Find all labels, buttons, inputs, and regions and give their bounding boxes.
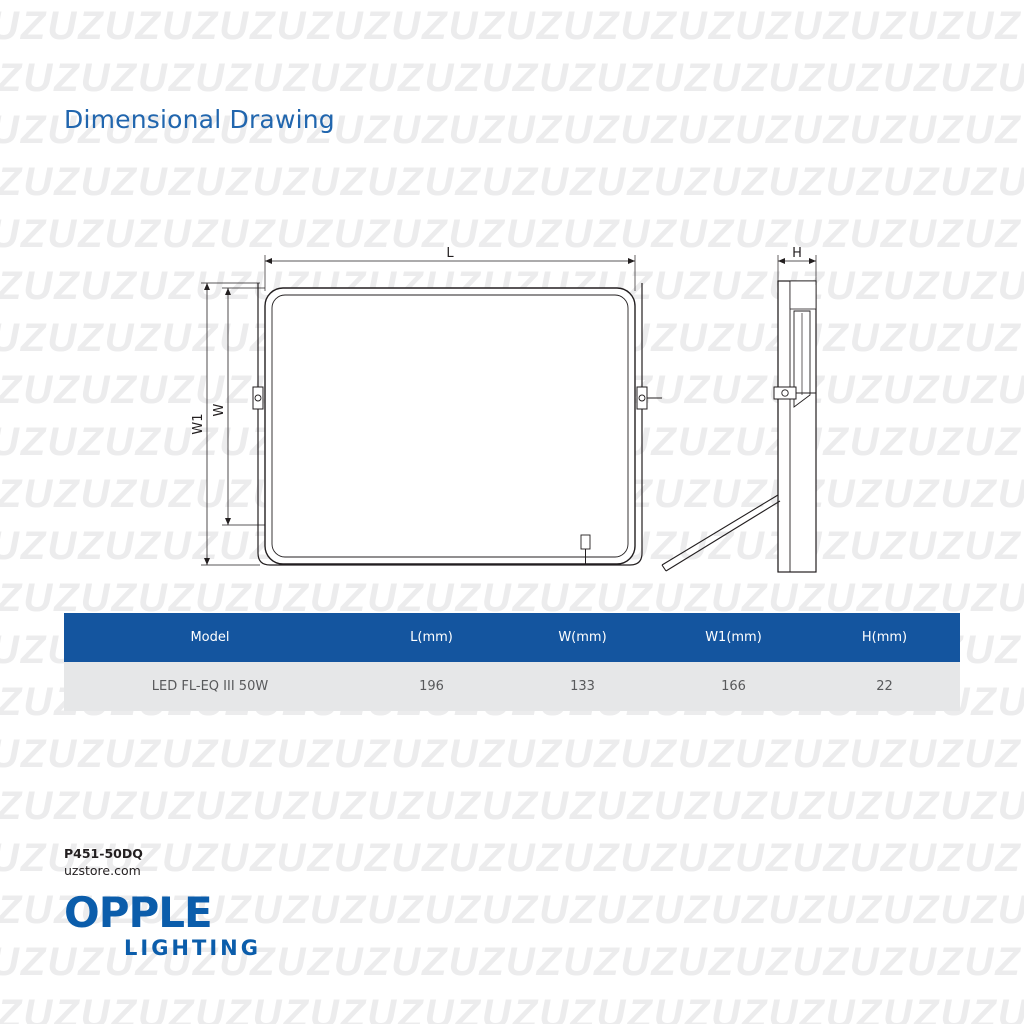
side-pivot-screw [782, 390, 788, 396]
dim-arrow-W1-top [204, 283, 210, 290]
dim-label-W1: W1 [191, 413, 206, 434]
table-header-row: Model L(mm) W(mm) W1(mm) H(mm) [64, 613, 960, 662]
power-cable-top [662, 495, 778, 565]
table-header-l: L(mm) [356, 613, 507, 662]
side-top-cap [790, 281, 816, 309]
website-text: uzstore.com [64, 862, 261, 879]
dim-arrow-W-bottom [225, 518, 231, 525]
table-header-w1: W1(mm) [658, 613, 809, 662]
dim-arrow-L-right [628, 258, 635, 264]
bottom-screw [581, 535, 590, 549]
cell-model: LED FL-EQ III 50W [64, 662, 356, 711]
specification-table: Model L(mm) W(mm) W1(mm) H(mm) LED FL-EQ… [64, 613, 960, 711]
table-header-w: W(mm) [507, 613, 658, 662]
front-body-outline [265, 288, 635, 564]
dim-arrow-H-right [809, 258, 816, 264]
logo-sub-text: LIGHTING [124, 935, 261, 961]
cell-w: 133 [507, 662, 658, 711]
cell-l: 196 [356, 662, 507, 711]
table-header-h: H(mm) [809, 613, 960, 662]
product-code: P451-50DQ [64, 845, 261, 862]
cell-w1: 166 [658, 662, 809, 711]
page-title: Dimensional Drawing [64, 105, 335, 134]
dim-arrow-W-top [225, 288, 231, 295]
dim-arrow-L-left [265, 258, 272, 264]
drawing-svg: L H W1 W [150, 235, 890, 600]
right-pivot-screw [639, 395, 645, 401]
dim-arrow-H-left [778, 258, 785, 264]
opple-logo: OPPLE LIGHTING [64, 891, 261, 961]
power-cable-end [662, 565, 666, 571]
table-row: LED FL-EQ III 50W 196 133 166 22 [64, 662, 960, 711]
dim-arrow-W1-bottom [204, 558, 210, 565]
logo-brand-text: OPPLE [64, 891, 261, 935]
table-header-model: Model [64, 613, 356, 662]
power-cable-bottom [666, 501, 780, 571]
dim-label-L: L [446, 246, 454, 261]
footer: P451-50DQ uzstore.com OPPLE LIGHTING [64, 845, 261, 961]
dim-label-H: H [792, 246, 802, 261]
cell-h: 22 [809, 662, 960, 711]
left-pivot-screw [255, 395, 261, 401]
dimensional-drawing: L H W1 W [150, 235, 890, 600]
dim-label-W: W [212, 403, 227, 416]
